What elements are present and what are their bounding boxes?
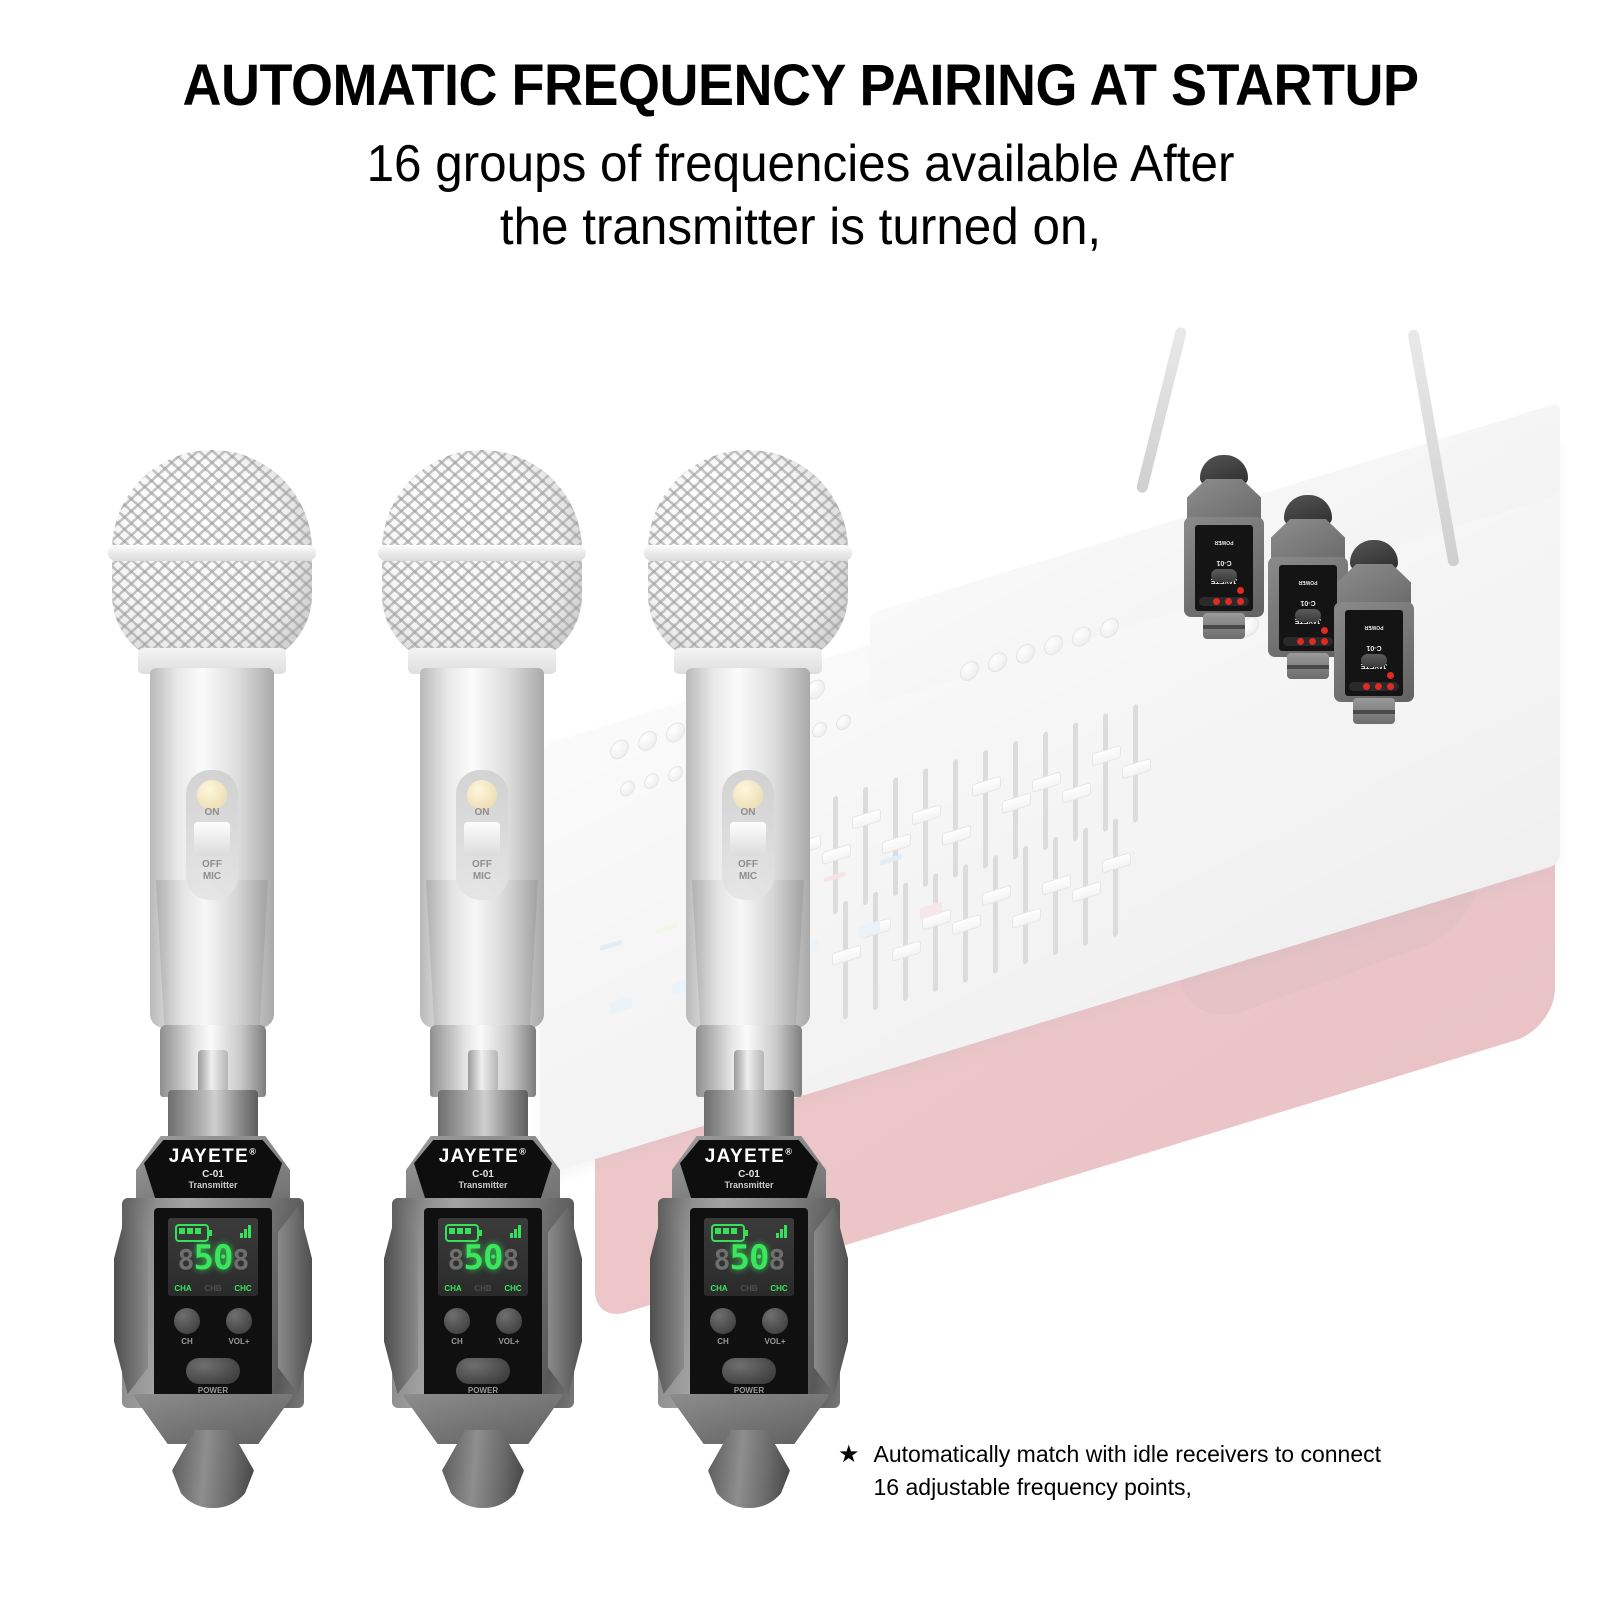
frequency-value: 50 xyxy=(194,1238,233,1278)
switch-slider-knob[interactable] xyxy=(730,822,766,856)
channel-indicator-row: CHA CHB CHC xyxy=(438,1284,528,1293)
lcd-display: 8508 CHA CHB CHC xyxy=(168,1218,258,1296)
receiver-connector-ring xyxy=(1353,710,1395,714)
frequency-value: 50 xyxy=(730,1238,769,1278)
channel-b-label: CHB xyxy=(204,1284,221,1293)
xlr-neck xyxy=(704,1090,794,1142)
receiver-power-button[interactable] xyxy=(1211,569,1237,582)
transmitter-control-face: 8508 CHA CHB CHC CH VOL+ POWER xyxy=(424,1208,542,1404)
receiver-unit-1: JAYETE C-01 POWER xyxy=(1178,455,1270,645)
volume-up-button[interactable] xyxy=(226,1308,252,1334)
mixer-fader xyxy=(1090,709,1120,836)
switch-on-label: ON xyxy=(186,808,238,819)
mixer-fader xyxy=(1120,700,1150,827)
switch-indicator-light xyxy=(733,780,763,810)
frequency-value: 50 xyxy=(464,1238,503,1278)
switch-on-label: ON xyxy=(722,808,774,819)
footnote-line-1: Automatically match with idle receivers … xyxy=(874,1438,1382,1471)
power-button-label: POWER xyxy=(446,1386,520,1395)
grille-band xyxy=(378,545,586,561)
microphone-unit-1: ON OFF MIC JAYETE® C-01 Transmitter 850 xyxy=(98,450,328,1540)
model-number: C-01 xyxy=(144,1169,282,1180)
switch-indicator-light xyxy=(467,780,497,810)
ghost-digit-left: 8 xyxy=(714,1243,730,1276)
footnote-text: Automatically match with idle receivers … xyxy=(874,1438,1382,1503)
mixer-fader xyxy=(970,746,1000,873)
switch-slider-knob[interactable] xyxy=(194,822,230,856)
mixer-fader xyxy=(890,878,920,1005)
channel-button-label: CH xyxy=(703,1337,743,1346)
receiver-power-button[interactable] xyxy=(1361,654,1387,667)
switch-off-label: OFF xyxy=(456,860,508,871)
brand-text: JAYETE xyxy=(439,1146,520,1167)
channel-indicator-row: CHA CHB CHC xyxy=(704,1284,794,1293)
receiver-status-bar xyxy=(1349,682,1399,691)
mixer-fader xyxy=(1010,842,1040,969)
receiver-led-indicator xyxy=(1225,598,1232,605)
channel-c-label: CHC xyxy=(234,1284,251,1293)
channel-a-label: CHA xyxy=(444,1284,461,1293)
transmitter-left-wing xyxy=(114,1206,148,1394)
ghost-digit-left: 8 xyxy=(178,1243,194,1276)
transmitter-module: JAYETE® C-01 Transmitter 8508 CHA CHB xyxy=(384,1136,582,1466)
device-kind: Transmitter xyxy=(414,1180,552,1190)
channel-button[interactable] xyxy=(710,1308,736,1334)
transmitter-right-wing xyxy=(814,1206,848,1394)
model-number: C-01 xyxy=(414,1169,552,1180)
mixer-fader xyxy=(980,851,1010,978)
microphone-unit-3: ON OFF MIC JAYETE® C-01 Transmitter 850 xyxy=(634,450,864,1540)
power-button-label: POWER xyxy=(712,1386,786,1395)
receiver-led-indicator xyxy=(1237,587,1244,594)
ghost-digit-left: 8 xyxy=(448,1243,464,1276)
switch-mic-label: MIC xyxy=(456,872,508,883)
transmitter-left-wing xyxy=(650,1206,684,1394)
mixer-fader xyxy=(1100,814,1130,941)
receiver-unit-3: JAYETE C-01 POWER xyxy=(1328,540,1420,730)
mixer-fader xyxy=(880,773,910,900)
transmitter-brand-plate: JAYETE® C-01 Transmitter xyxy=(680,1140,818,1198)
transmitter-brand-plate: JAYETE® C-01 Transmitter xyxy=(414,1140,552,1198)
receiver-power-label: POWER xyxy=(1345,624,1403,630)
microphone-unit-2: ON OFF MIC JAYETE® C-01 Transmitter 850 xyxy=(368,450,598,1540)
mixer-fader xyxy=(1030,727,1060,854)
switch-mic-label: MIC xyxy=(722,872,774,883)
mixer-fader xyxy=(1000,737,1030,864)
receiver-led-indicator xyxy=(1387,672,1394,679)
mixer-fader xyxy=(860,888,890,1015)
xlr-neck xyxy=(438,1090,528,1142)
mixer-fader xyxy=(1040,832,1070,959)
volume-button-label: VOL+ xyxy=(489,1337,529,1346)
antenna xyxy=(1136,326,1188,494)
frequency-readout: 8508 xyxy=(438,1238,528,1278)
star-bullet-icon: ★ xyxy=(838,1438,860,1503)
volume-button-label: VOL+ xyxy=(755,1337,795,1346)
receiver-panel: JAYETE C-01 POWER xyxy=(1345,610,1403,696)
receiver-led-indicator xyxy=(1375,683,1382,690)
receiver-led-indicator xyxy=(1387,683,1394,690)
transmitter-left-wing xyxy=(384,1206,418,1394)
brand-name: JAYETE® xyxy=(414,1146,552,1168)
volume-up-button[interactable] xyxy=(762,1308,788,1334)
mixer-fader xyxy=(920,869,950,996)
power-button[interactable] xyxy=(456,1358,510,1384)
footnote-line-2: 16 adjustable frequency points, xyxy=(874,1471,1382,1504)
model-number: C-01 xyxy=(680,1169,818,1180)
receiver-led-indicator xyxy=(1309,638,1316,645)
channel-indicator-row: CHA CHB CHC xyxy=(168,1284,258,1293)
signal-strength-icon xyxy=(776,1223,787,1238)
frequency-readout: 8508 xyxy=(704,1238,794,1278)
ghost-digit-right: 8 xyxy=(232,1243,248,1276)
ghost-digit-right: 8 xyxy=(768,1243,784,1276)
signal-strength-icon xyxy=(510,1223,521,1238)
switch-off-label: OFF xyxy=(722,860,774,871)
receiver-led-indicator xyxy=(1297,638,1304,645)
mixer-fader xyxy=(910,764,940,891)
transmitter-right-wing xyxy=(278,1206,312,1394)
transmitter-right-wing xyxy=(548,1206,582,1394)
channel-b-label: CHB xyxy=(740,1284,757,1293)
channel-button-label: CH xyxy=(437,1337,477,1346)
registered-mark: ® xyxy=(785,1147,793,1157)
device-kind: Transmitter xyxy=(144,1180,282,1190)
microphone-handle-taper xyxy=(426,880,538,1040)
switch-off-label: OFF xyxy=(186,860,238,871)
lcd-display: 8508 CHA CHB CHC xyxy=(438,1218,528,1296)
channel-button[interactable] xyxy=(444,1308,470,1334)
mixer-fader xyxy=(940,755,970,882)
registered-mark: ® xyxy=(519,1147,527,1157)
switch-slider-knob[interactable] xyxy=(464,822,500,856)
transmitter-control-face: 8508 CHA CHB CHC CH VOL+ POWER xyxy=(690,1208,808,1404)
switch-on-label: ON xyxy=(456,808,508,819)
transmitter-brand-plate: JAYETE® C-01 Transmitter xyxy=(144,1140,282,1198)
channel-a-label: CHA xyxy=(174,1284,191,1293)
frequency-readout: 8508 xyxy=(168,1238,258,1278)
switch-mic-label: MIC xyxy=(186,872,238,883)
volume-button-label: VOL+ xyxy=(219,1337,259,1346)
receiver-led-indicator xyxy=(1321,638,1328,645)
signal-strength-icon xyxy=(240,1223,251,1238)
channel-a-label: CHA xyxy=(710,1284,727,1293)
receiver-power-label: POWER xyxy=(1195,539,1253,545)
power-button[interactable] xyxy=(722,1358,776,1384)
receiver-connector-ring xyxy=(1203,625,1245,629)
mixer-fader xyxy=(950,860,980,987)
transmitter-control-face: 8508 CHA CHB CHC CH VOL+ POWER xyxy=(154,1208,272,1404)
brand-text: JAYETE xyxy=(169,1146,250,1167)
channel-button-label: CH xyxy=(167,1337,207,1346)
mixer-fader xyxy=(1060,718,1090,845)
mixer-fader xyxy=(1070,823,1100,950)
receiver-model-label: C-01 xyxy=(1195,559,1253,566)
brand-name: JAYETE® xyxy=(144,1146,282,1168)
ghost-digit-right: 8 xyxy=(502,1243,518,1276)
transmitter-module: JAYETE® C-01 Transmitter 8508 CHA CHB xyxy=(650,1136,848,1466)
receiver-led-indicator xyxy=(1363,683,1370,690)
registered-mark: ® xyxy=(249,1147,257,1157)
product-scene: JAYETE C-01 POWER JAYETE C-01 POWER xyxy=(0,0,1601,1601)
microphone-handle-taper xyxy=(692,880,804,1040)
receiver-led-indicator xyxy=(1237,598,1244,605)
xlr-neck xyxy=(168,1090,258,1142)
receiver-led-indicator xyxy=(1213,598,1220,605)
brand-text: JAYETE xyxy=(705,1146,786,1167)
receiver-power-button[interactable] xyxy=(1295,609,1321,622)
channel-b-label: CHB xyxy=(474,1284,491,1293)
lcd-display: 8508 CHA CHB CHC xyxy=(704,1218,794,1296)
brand-name: JAYETE® xyxy=(680,1146,818,1168)
switch-indicator-light xyxy=(197,780,227,810)
receiver-led-indicator xyxy=(1321,627,1328,634)
grille-band xyxy=(108,545,316,561)
power-button[interactable] xyxy=(186,1358,240,1384)
receiver-model-label: C-01 xyxy=(1345,644,1403,651)
channel-button[interactable] xyxy=(174,1308,200,1334)
device-kind: Transmitter xyxy=(680,1180,818,1190)
grille-band xyxy=(644,545,852,561)
receiver-status-bar xyxy=(1283,637,1333,646)
microphone-handle-taper xyxy=(156,880,268,1040)
volume-up-button[interactable] xyxy=(496,1308,522,1334)
power-button-label: POWER xyxy=(176,1386,250,1395)
footnote-block: ★ Automatically match with idle receiver… xyxy=(838,1438,1398,1503)
receiver-status-bar xyxy=(1199,597,1249,606)
receiver-panel: JAYETE C-01 POWER xyxy=(1195,525,1253,611)
transmitter-module: JAYETE® C-01 Transmitter 8508 CHA CHB xyxy=(114,1136,312,1466)
receiver-connector-ring xyxy=(1287,665,1329,669)
channel-c-label: CHC xyxy=(504,1284,521,1293)
channel-c-label: CHC xyxy=(770,1284,787,1293)
